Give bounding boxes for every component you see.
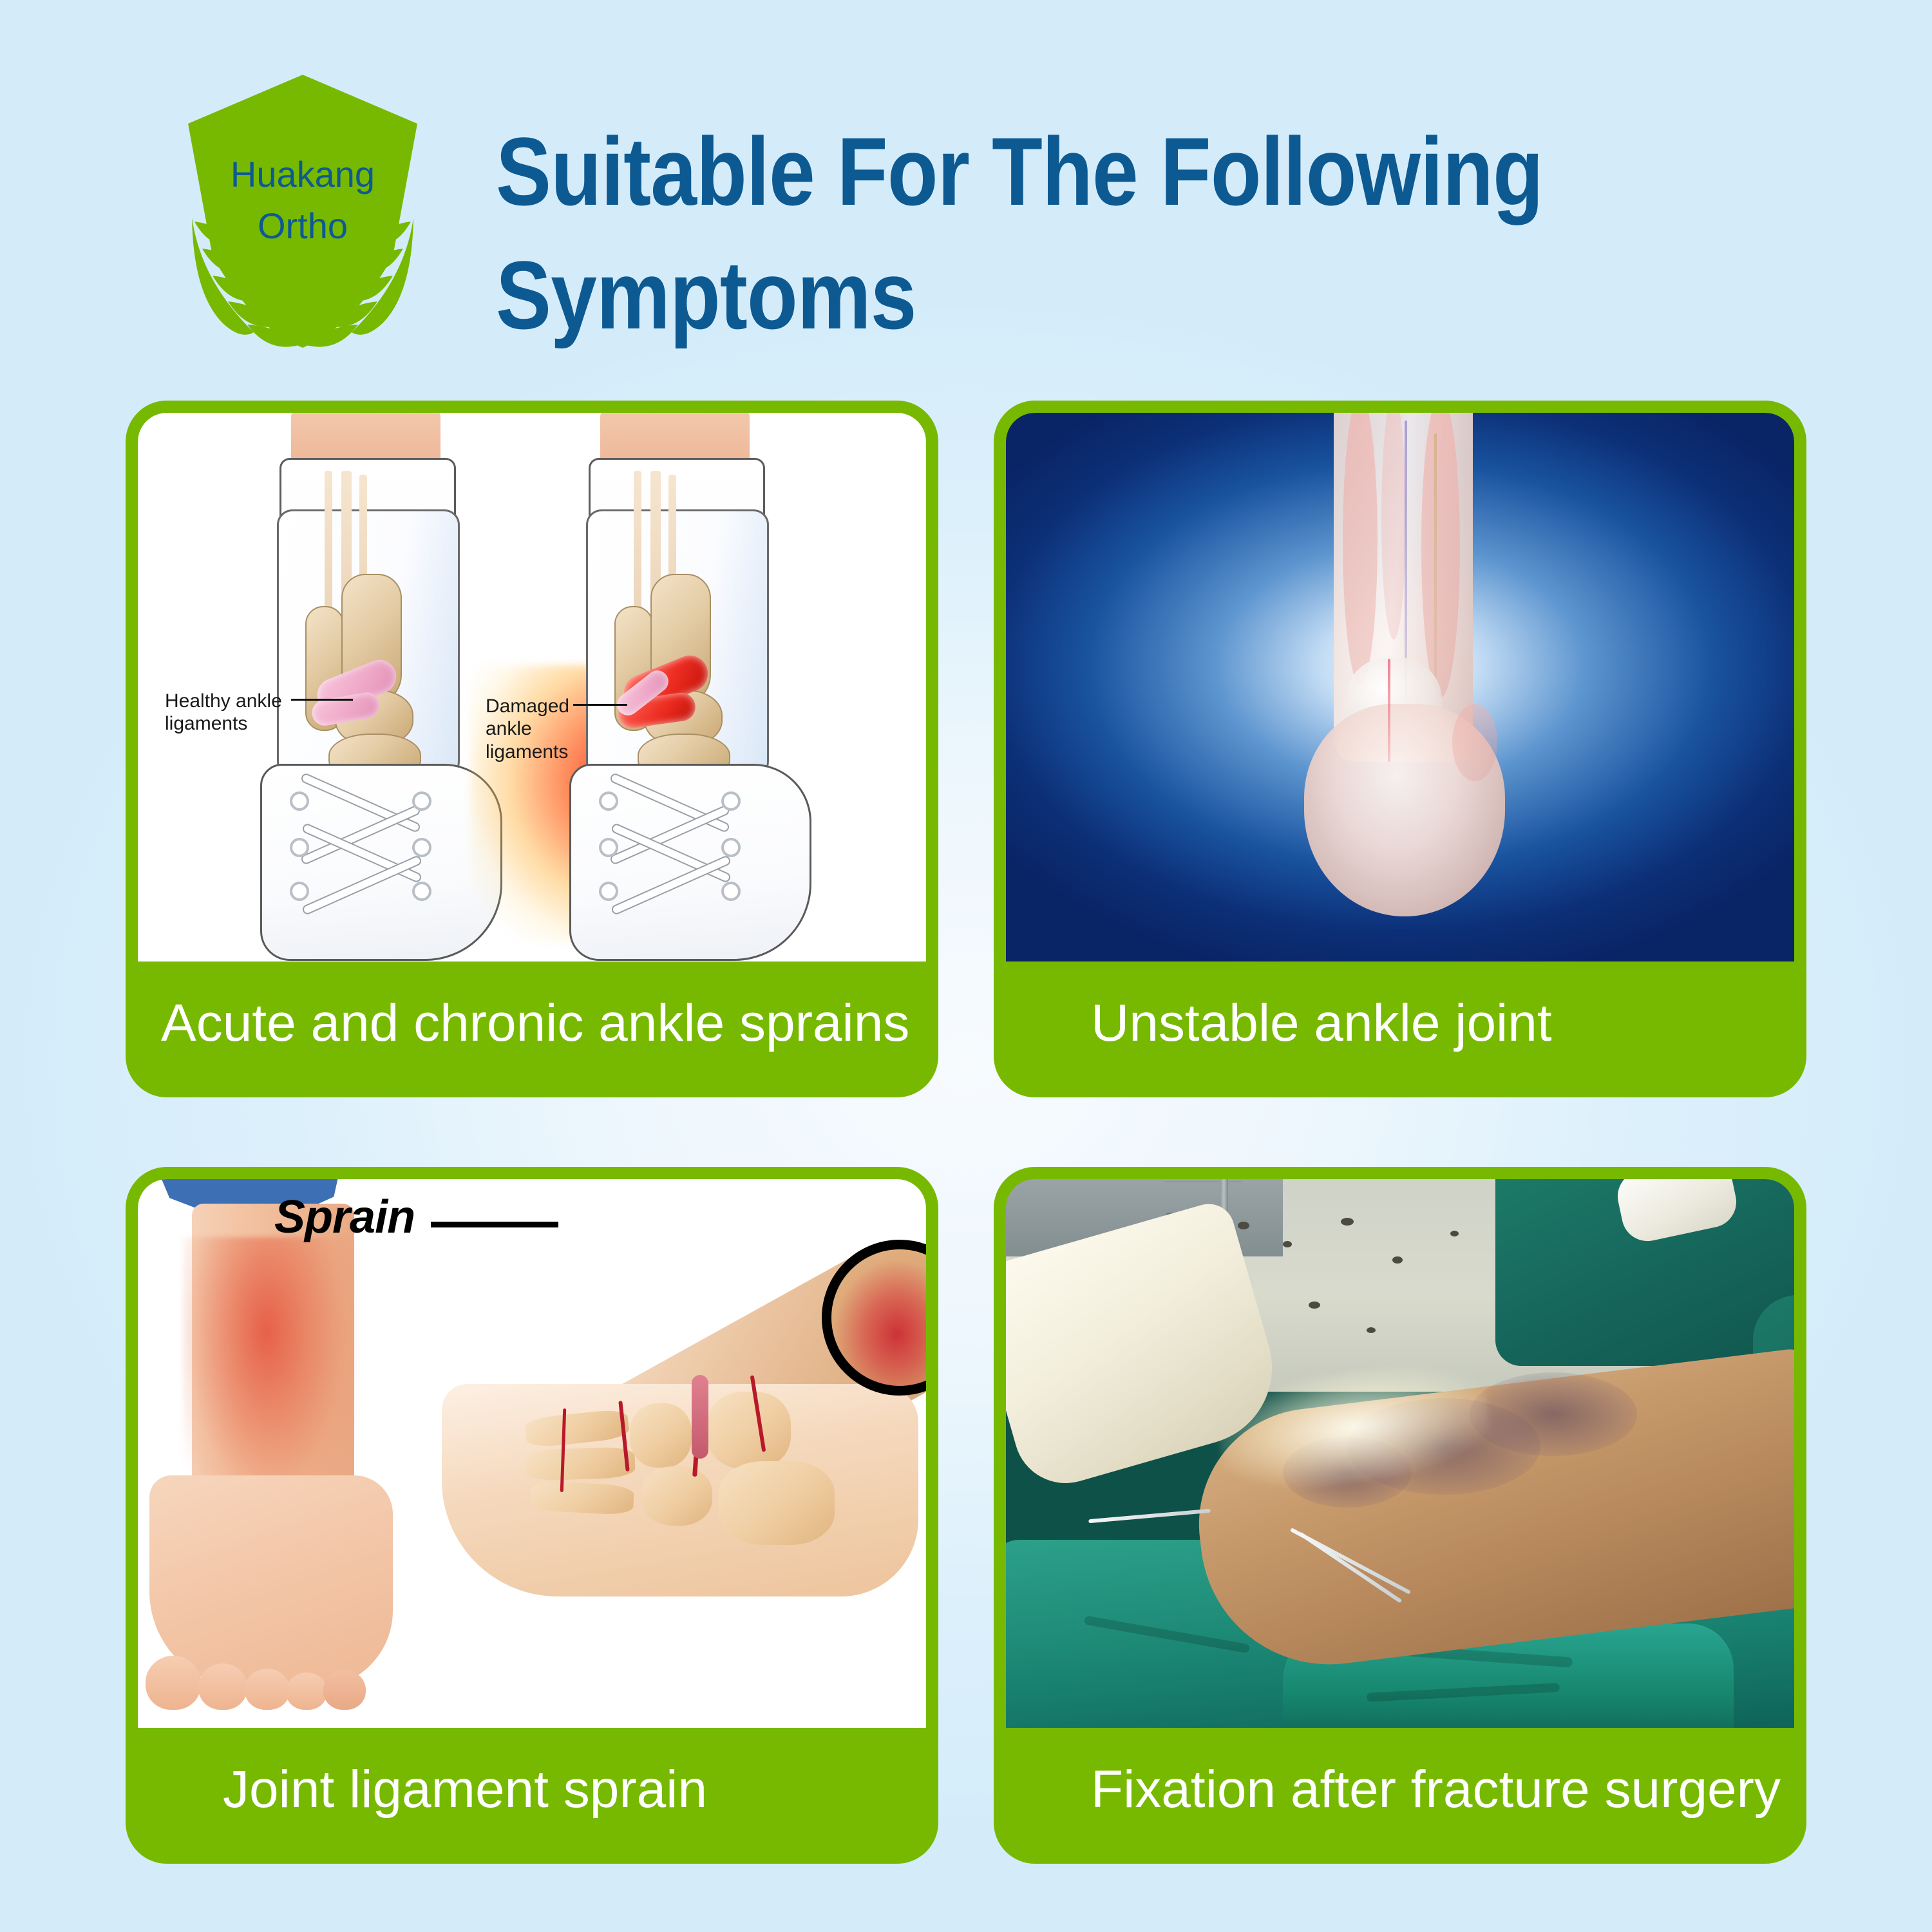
eyelet: [290, 882, 309, 901]
eyelet: [599, 791, 618, 811]
toe: [245, 1669, 290, 1710]
caption-text: Acute and chronic ankle sprains: [161, 997, 909, 1050]
caption-text: Fixation after fracture surgery: [1091, 1763, 1781, 1816]
infographic-page: Huakang Ortho Suitable For The Following…: [0, 0, 1932, 1932]
label-sprain: Sprain: [274, 1191, 415, 1244]
floor-debris: [1341, 1218, 1354, 1226]
caption-text: Joint ligament sprain: [223, 1763, 707, 1816]
soft-tissue-3d: [1452, 704, 1497, 781]
page-title: Suitable For The Following Symptoms: [496, 109, 1615, 357]
leader-line: [291, 699, 353, 701]
k-wire: [1088, 1509, 1211, 1524]
floor-debris: [1367, 1327, 1376, 1333]
skeletal-foot-illustration: [429, 1249, 926, 1661]
floor-debris: [1450, 1231, 1459, 1236]
eyelet: [412, 838, 431, 857]
toe: [198, 1663, 247, 1710]
card-media-ankle-sprain-diagram: Healthy ankle ligaments Damaged ankle li…: [138, 413, 926, 961]
eyelet: [721, 882, 741, 901]
symptom-card-joint-ligament-sprain[interactable]: Sprain Joint ligament sprain: [126, 1167, 938, 1864]
eyelet: [412, 791, 431, 811]
eyelet: [599, 882, 618, 901]
card-media-ligament-sprain-diagram: Sprain: [138, 1179, 926, 1728]
damaged-ankle-illustration: [524, 413, 827, 961]
symptom-card-fixation-after-fracture-surgery[interactable]: Fixation after fracture surgery: [994, 1167, 1806, 1864]
tarsal-bone: [630, 1403, 692, 1468]
label-line: ligaments: [486, 741, 601, 763]
symptom-card-unstable-ankle-joint[interactable]: Unstable ankle joint: [994, 401, 1806, 1097]
page-title-line2: Symptoms: [496, 233, 1615, 357]
label-line: ligaments: [165, 712, 300, 735]
swollen-foot: [149, 1475, 393, 1688]
label-healthy-ankle-ligaments: Healthy ankle ligaments: [165, 690, 300, 735]
leader-line: [573, 704, 627, 706]
toe: [146, 1656, 201, 1710]
inflammation-overlay: [183, 1237, 355, 1514]
symptom-card-acute-chronic-ankle-sprains[interactable]: Healthy ankle ligaments Damaged ankle li…: [126, 401, 938, 1097]
logo-text-line1: Huakang: [231, 154, 375, 194]
label-line: Healthy ankle: [165, 690, 300, 712]
card-caption-fixation-after-fracture-surgery: Fixation after fracture surgery: [1006, 1728, 1794, 1851]
ankle-3d-model: [1262, 413, 1539, 942]
eyelet: [721, 838, 741, 857]
tarsal-bone: [641, 1466, 712, 1526]
page-header: Huakang Ortho Suitable For The Following…: [0, 0, 1932, 386]
floor-debris: [1283, 1241, 1292, 1247]
logo-text-line2: Ortho: [258, 205, 348, 246]
toe: [286, 1672, 327, 1710]
eyelet: [290, 791, 309, 811]
floor-debris: [1238, 1222, 1249, 1229]
bruising: [1470, 1372, 1637, 1456]
floor-debris: [1309, 1302, 1320, 1309]
caption-text: Unstable ankle joint: [1091, 997, 1552, 1050]
brand-logo: Huakang Ortho: [180, 70, 425, 353]
swollen-foot-illustration: [138, 1179, 471, 1701]
card-media-surgery-photo: [1006, 1179, 1794, 1728]
artery-3d: [1388, 659, 1390, 762]
ligament-strand: [692, 1375, 708, 1459]
card-media-unstable-ankle-render: [1006, 413, 1794, 961]
shield-laurel-icon: Huakang Ortho: [180, 70, 425, 353]
card-caption-acute-chronic-ankle-sprains: Acute and chronic ankle sprains: [138, 961, 926, 1084]
eyelet: [599, 838, 618, 857]
floor-debris: [1392, 1256, 1403, 1264]
nerve-3d: [1434, 433, 1437, 691]
big-toe: [323, 1670, 366, 1710]
card-caption-joint-ligament-sprain: Joint ligament sprain: [138, 1728, 926, 1851]
eyelet: [721, 791, 741, 811]
label-line: Damaged: [486, 695, 601, 717]
vein-3d: [1405, 421, 1407, 697]
calcaneus-bone: [719, 1461, 835, 1545]
eyelet: [290, 838, 309, 857]
eyelet: [412, 882, 431, 901]
card-caption-unstable-ankle-joint: Unstable ankle joint: [1006, 961, 1794, 1084]
page-title-line1: Suitable For The Following: [496, 109, 1615, 233]
talus-bone: [707, 1392, 791, 1469]
label-line: ankle: [486, 717, 601, 740]
equipment-crossbar: [1164, 1179, 1242, 1182]
leader-line: [431, 1222, 558, 1227]
metatarsal-bone: [525, 1446, 636, 1481]
